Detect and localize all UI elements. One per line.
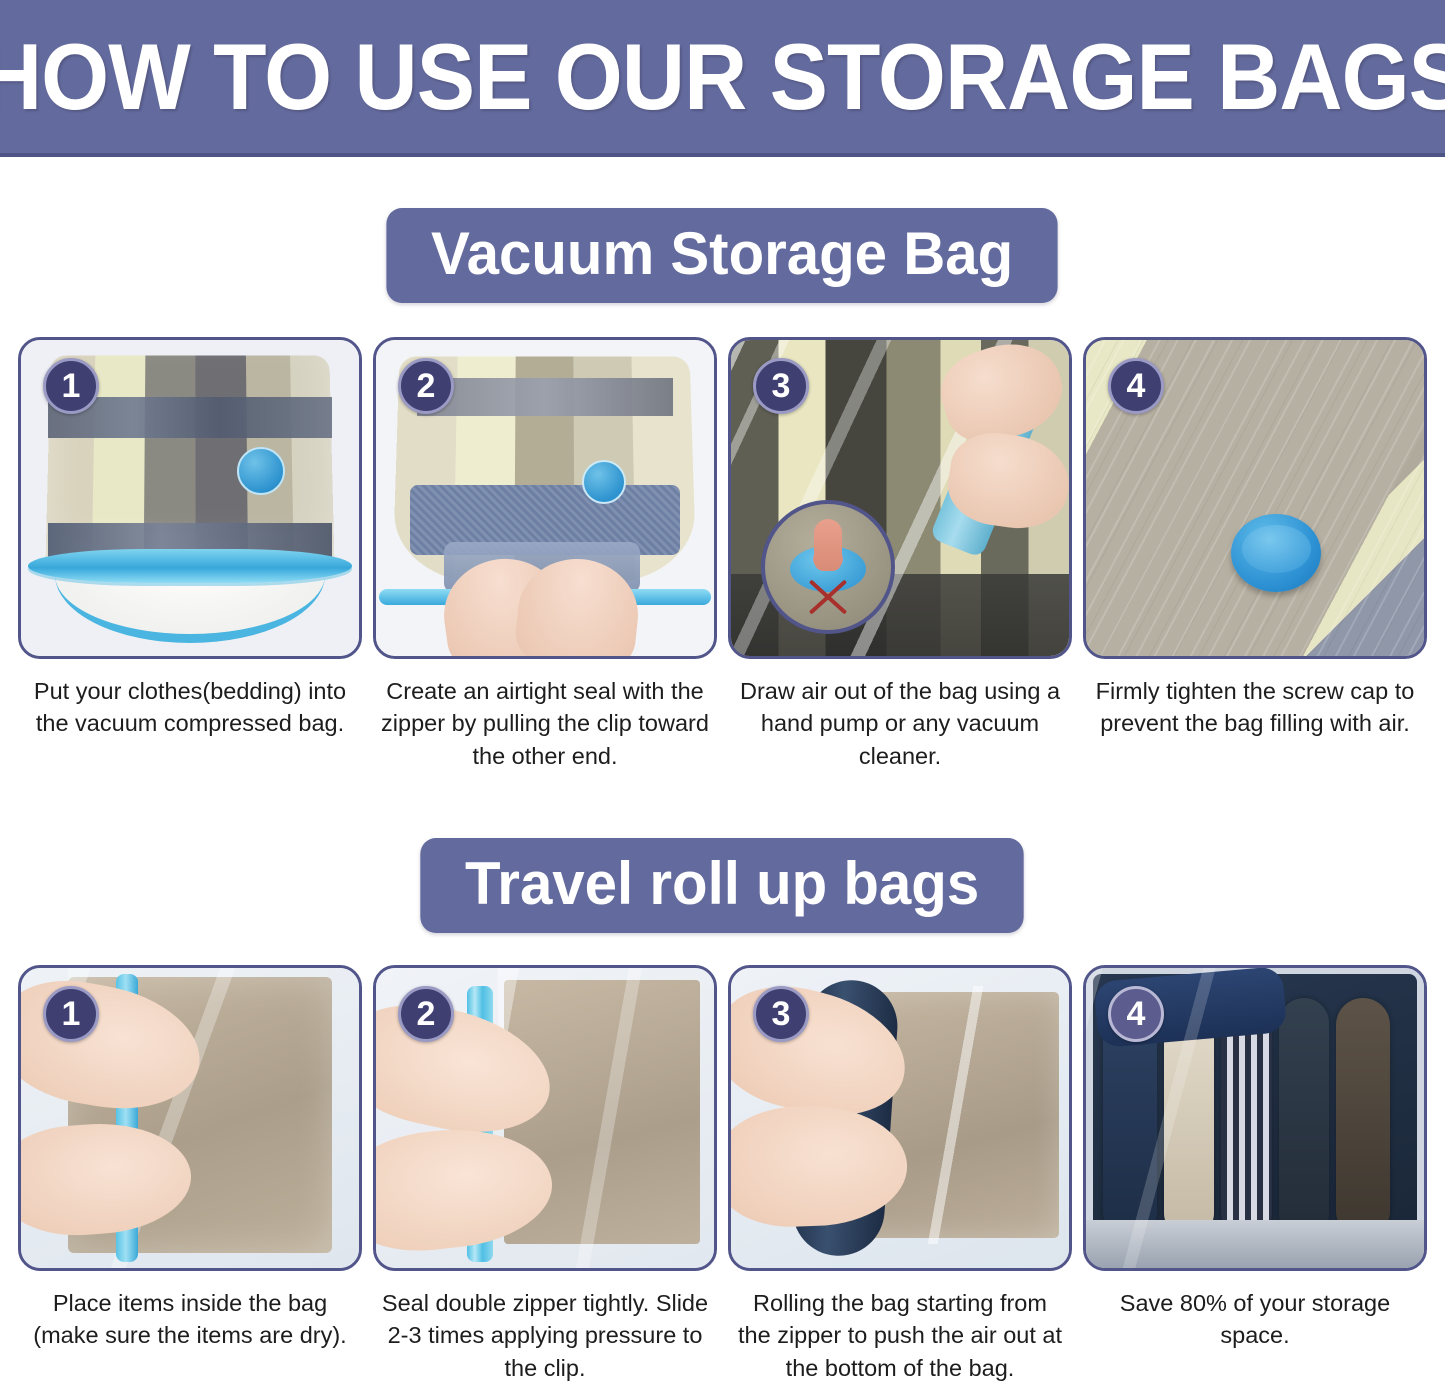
step-number-badge: 1 [43,986,99,1042]
step-card-1-1: 1 Put your clothes(bedding) into the vac… [18,337,362,772]
step-card-2-1: 1 Place items inside the bag (make sure … [18,965,362,1384]
step-caption: Place items inside the bag (make sure th… [19,1287,361,1352]
section-vacuum-storage-bag: Vacuum Storage Bag 1 Put [0,208,1445,772]
step-image-2-1: 1 [18,965,362,1271]
step-image-1-1: 1 [18,337,362,659]
step-caption: Put your clothes(bedding) into the vacuu… [19,675,361,740]
step-number-badge: 3 [753,358,809,414]
section-title-wrap-1: Vacuum Storage Bag [0,208,1445,303]
steps-grid-1: 1 Put your clothes(bedding) into the vac… [0,337,1445,772]
step-card-1-2: 2 Create an airtight seal with the zippe… [373,337,717,772]
section-title-wrap-2: Travel roll up bags [0,838,1445,933]
red-x-icon [805,577,851,617]
step-card-2-4: 4 Save 80% of your storage space. [1083,965,1427,1384]
step-image-1-2: 2 [373,337,717,659]
finger-icon [814,519,842,571]
step-card-1-4: 4 Firmly tighten the screw cap to preven… [1083,337,1427,772]
step-caption: Draw air out of the bag using a hand pum… [729,675,1071,772]
section-travel-roll-up-bags: Travel roll up bags 1 Place items insi [0,838,1445,1384]
step-number-badge: 3 [753,986,809,1042]
step-number-badge: 4 [1108,986,1164,1042]
step-number-badge: 1 [43,358,99,414]
valve-warning-inset [761,500,895,634]
step-image-2-4: 4 [1083,965,1427,1271]
screw-cap-icon [1231,514,1321,592]
step-caption: Seal double zipper tightly. Slide 2-3 ti… [374,1287,716,1384]
step-number-badge: 2 [398,358,454,414]
step-caption: Create an airtight seal with the zipper … [374,675,716,772]
steps-grid-2: 1 Place items inside the bag (make sure … [0,965,1445,1384]
page-header-banner: HOW TO USE OUR STORAGE BAGS [0,0,1445,157]
step-number-badge: 2 [398,986,454,1042]
infographic-page: HOW TO USE OUR STORAGE BAGS Vacuum Stora… [0,0,1445,1397]
section-title-1: Vacuum Storage Bag [387,208,1058,303]
step-image-2-2: 2 [373,965,717,1271]
bag-valve-icon [237,447,285,495]
step-card-2-2: 2 Seal double zipper tightly. Slide 2-3 … [373,965,717,1384]
step-number-badge: 4 [1108,358,1164,414]
section-title-2: Travel roll up bags [421,838,1024,933]
bag-valve-icon [582,460,626,504]
step-image-1-4: 4 [1083,337,1427,659]
step-card-1-3: 3 Draw air out of the bag using a hand p… [728,337,1072,772]
step-caption: Firmly tighten the screw cap to prevent … [1084,675,1426,740]
step-card-2-3: 3 Rolling the bag starting from the zipp… [728,965,1072,1384]
zipper-icon [28,549,352,583]
step-caption: Rolling the bag starting from the zipper… [729,1287,1071,1384]
step-image-1-3: 3 [728,337,1072,659]
step-caption: Save 80% of your storage space. [1084,1287,1426,1352]
step-image-2-3: 3 [728,965,1072,1271]
page-title: HOW TO USE OUR STORAGE BAGS [0,30,1445,124]
